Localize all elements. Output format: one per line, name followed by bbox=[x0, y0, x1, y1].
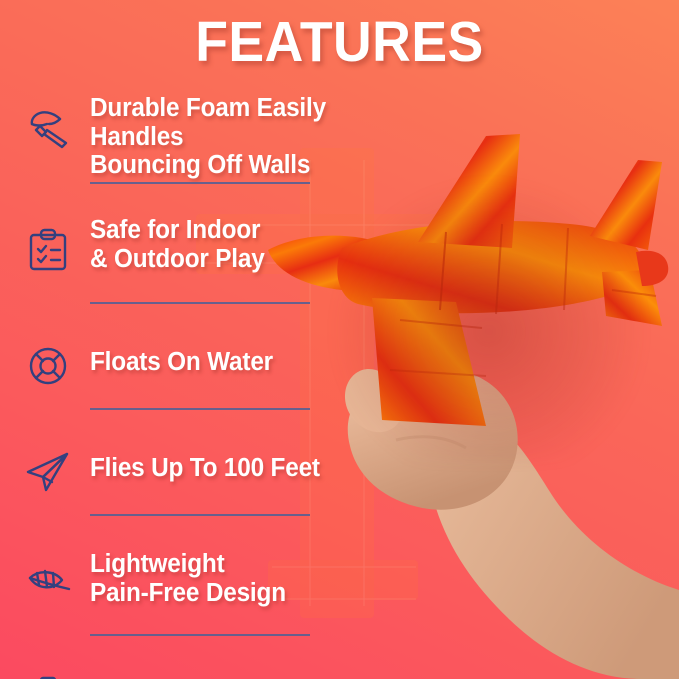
feature-label: Lightweight Pain-Free Design bbox=[90, 538, 405, 607]
feature-row: Safe for Indoor & Outdoor Play bbox=[0, 206, 420, 302]
feature-divider bbox=[90, 634, 310, 636]
hammer-icon bbox=[22, 102, 74, 154]
feature-row: Flies Up To 100 Feet bbox=[0, 432, 420, 514]
feature-label: Durable Foam Easily Handles Bouncing Off… bbox=[90, 86, 405, 180]
feature-divider bbox=[90, 514, 310, 516]
feature-label: Flies Up To 100 Feet bbox=[90, 432, 405, 483]
clipboard-check-icon bbox=[22, 224, 74, 276]
feature-row: Perfect Compact Travel Toy bbox=[0, 658, 420, 679]
feature-divider bbox=[90, 302, 310, 304]
paper-plane-icon bbox=[22, 446, 74, 498]
feature-label: Safe for Indoor & Outdoor Play bbox=[90, 206, 405, 273]
feather-icon bbox=[22, 556, 74, 608]
features-list: Durable Foam Easily Handles Bouncing Off… bbox=[0, 86, 420, 679]
feature-divider bbox=[90, 408, 310, 410]
feature-row: Durable Foam Easily Handles Bouncing Off… bbox=[0, 86, 420, 182]
feature-label: Perfect Compact Travel Toy bbox=[90, 658, 405, 679]
features-product-card: FEATURES Durable Foam Easily Handles Bou… bbox=[0, 0, 679, 679]
life-ring-icon bbox=[22, 340, 74, 392]
feature-row: Floats On Water bbox=[0, 326, 420, 408]
feature-label: Floats On Water bbox=[90, 326, 405, 377]
page-title: FEATURES bbox=[20, 9, 658, 75]
briefcase-icon bbox=[22, 670, 74, 679]
feature-row: Lightweight Pain-Free Design bbox=[0, 538, 420, 634]
feature-divider bbox=[90, 182, 310, 184]
